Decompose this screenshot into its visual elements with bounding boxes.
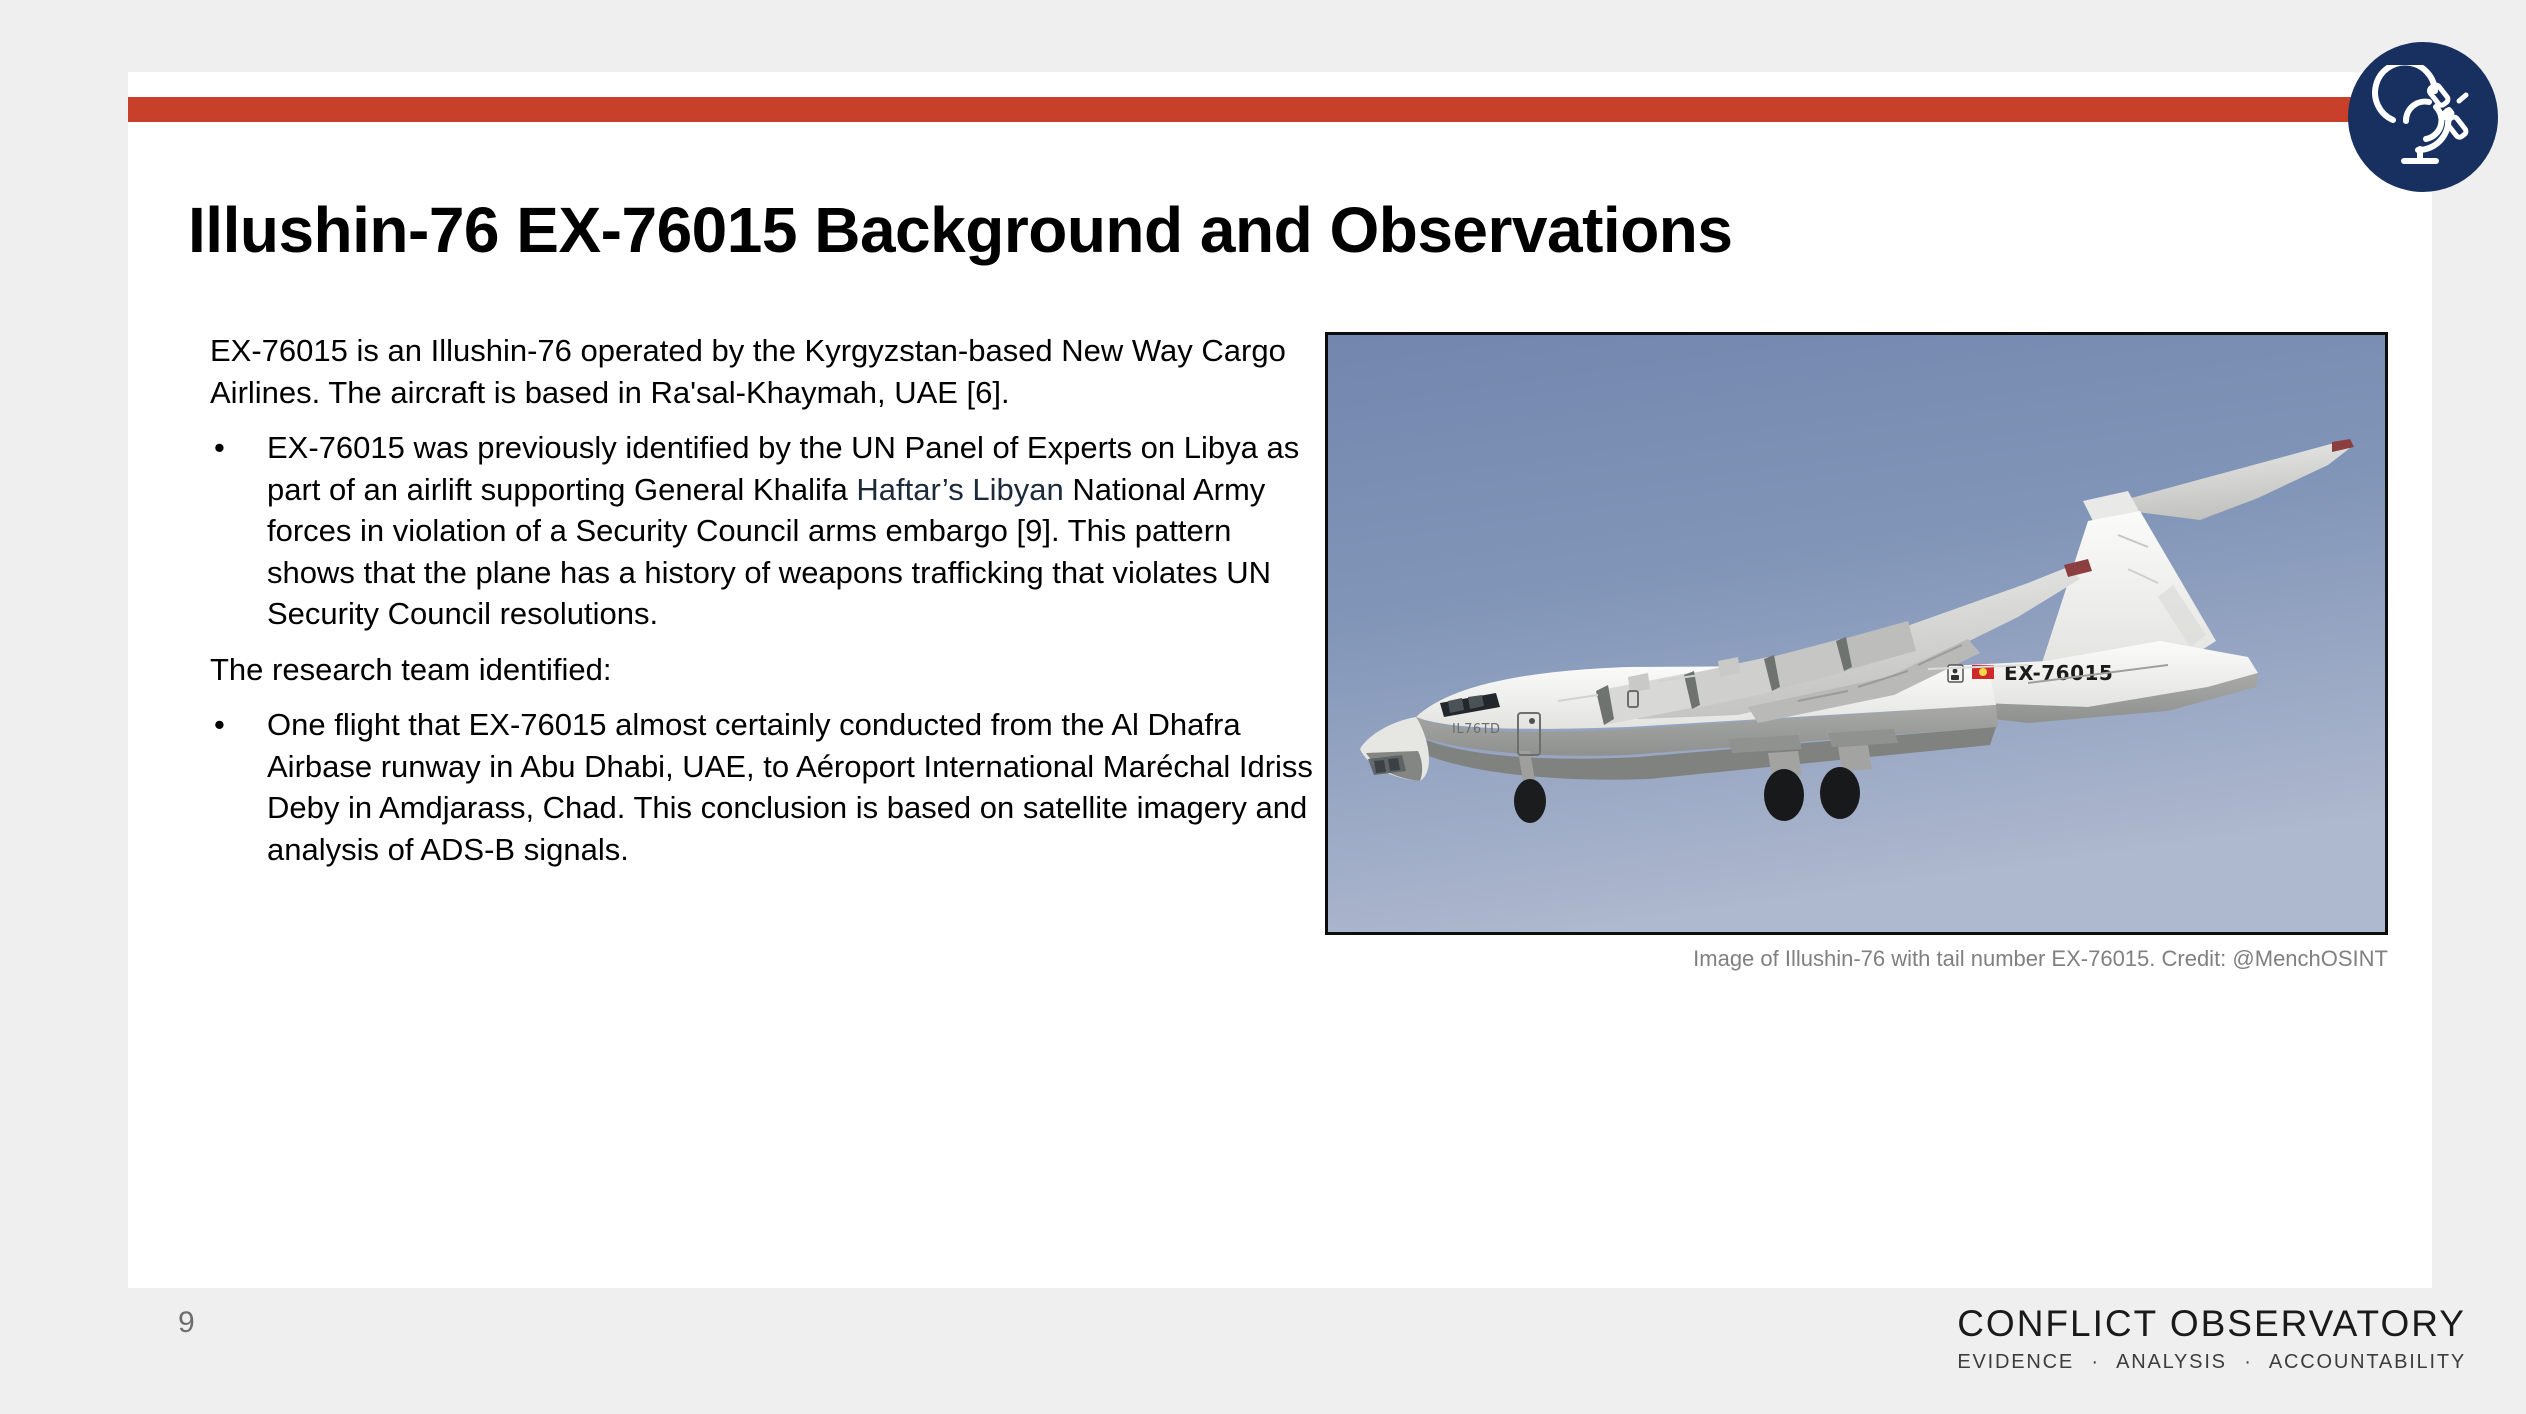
page-number: 9 <box>178 1306 195 1340</box>
bullet-marker-icon: • <box>210 704 267 746</box>
tagline-separator-icon: · <box>2081 1351 2109 1373</box>
body-text-column: EX-76015 is an Illushin-76 operated by t… <box>210 330 1320 884</box>
photo-caption: Image of Illushin-76 with tail number EX… <box>1325 944 2388 974</box>
intro-paragraph: EX-76015 is an Illushin-76 operated by t… <box>210 330 1320 413</box>
conflict-observatory-logo-badge <box>2348 42 2498 192</box>
tagline-evidence: EVIDENCE <box>1957 1351 2074 1373</box>
brand-tagline: EVIDENCE · ANALYSIS · ACCOUNTABILITY <box>1957 1348 2466 1376</box>
slide-canvas: Illushin-76 EX-76015 Background and Obse… <box>0 0 2526 1414</box>
bullet-marker-icon: • <box>210 427 267 469</box>
bullet-list-two: • One flight that EX-76015 almost certai… <box>210 704 1320 870</box>
list-item: • One flight that EX-76015 almost certai… <box>210 704 1320 870</box>
tagline-analysis: ANALYSIS <box>2116 1351 2227 1373</box>
brand-name: CONFLICT OBSERVATORY <box>1957 1302 2466 1346</box>
page-title: Illushin-76 EX-76015 Background and Obse… <box>188 195 2368 267</box>
accent-bar <box>128 97 2432 122</box>
list-item: • EX-76015 was previously identified by … <box>210 427 1320 635</box>
tagline-separator-icon: · <box>2234 1351 2262 1373</box>
globe-satellite-icon <box>2371 65 2475 169</box>
bullet-one-text: EX-76015 was previously identified by th… <box>267 427 1320 635</box>
bullet-list-one: • EX-76015 was previously identified by … <box>210 427 1320 635</box>
bullet-one-highlight: Haftar’s Libyan <box>856 472 1063 507</box>
aircraft-photo-illustration: EX-76015 IL76TD <box>1328 335 2385 932</box>
aircraft-photo: EX-76015 IL76TD <box>1325 332 2388 935</box>
bullet-two-text: One flight that EX-76015 almost certainl… <box>267 704 1320 870</box>
footer-brand: CONFLICT OBSERVATORY EVIDENCE · ANALYSIS… <box>1957 1302 2466 1376</box>
tagline-accountability: ACCOUNTABILITY <box>2269 1351 2466 1373</box>
lead-in-paragraph: The research team identified: <box>210 649 1320 691</box>
svg-text:IL76TD: IL76TD <box>1452 722 1501 737</box>
